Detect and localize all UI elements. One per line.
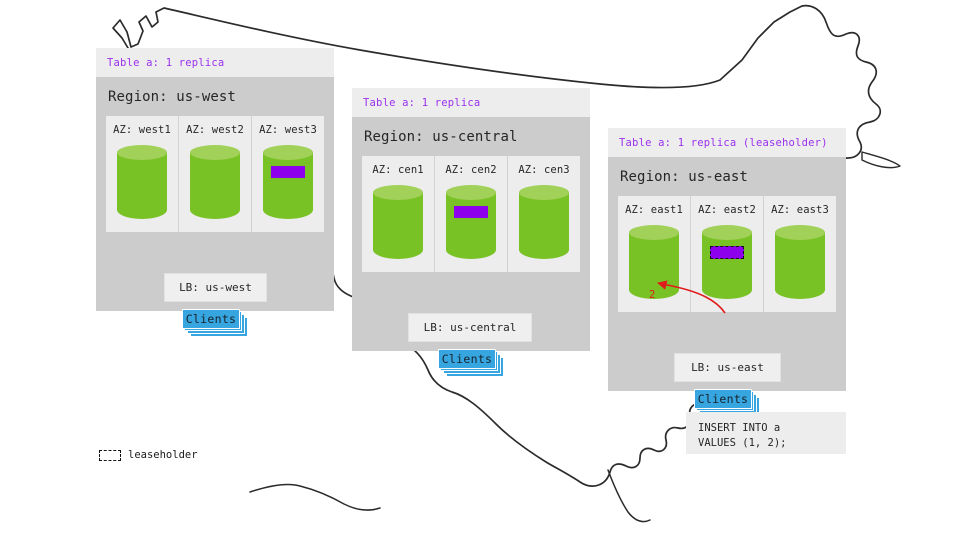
az-strip: AZ: west1 AZ: west2 [106, 116, 324, 232]
az-label: AZ: west2 [179, 124, 251, 136]
cylinder-body [117, 152, 167, 219]
az-strip: AZ: cen1 AZ: cen2 [362, 156, 580, 272]
cylinder-body [775, 232, 825, 299]
database-cylinder-cen1[interactable] [373, 185, 423, 259]
diagram-stage: Table a: 1 replica Region: us-west AZ: w… [0, 0, 960, 540]
dashed-rect-icon [99, 450, 121, 461]
az-label: AZ: cen2 [435, 164, 507, 176]
database-cylinder-east1[interactable] [629, 225, 679, 299]
replica-block-west3 [271, 166, 305, 178]
cylinder-body [519, 192, 569, 259]
cylinder-body [190, 152, 240, 219]
az-label: AZ: cen1 [362, 164, 434, 176]
region-title: Region: us-east [618, 157, 836, 196]
cylinder-top [446, 185, 496, 200]
legend-leaseholder: leaseholder [99, 449, 198, 461]
cylinder-top [702, 225, 752, 240]
region-header-label: Table a: 1 replica (leaseholder) [608, 128, 846, 157]
cylinder-body [373, 192, 423, 259]
database-cylinder-east2[interactable] [702, 225, 752, 299]
leaseholder-block-east2 [710, 246, 744, 259]
cylinder-top [629, 225, 679, 240]
region-body: Region: us-west AZ: west1 AZ: west2 [96, 77, 334, 311]
clients-button-label[interactable]: Clients [694, 389, 752, 409]
legend-label: leaseholder [128, 449, 198, 461]
az-cell-cen2[interactable]: AZ: cen2 [435, 156, 508, 272]
cylinder-body [446, 192, 496, 259]
region-panel-us-central: Table a: 1 replica Region: us-central AZ… [352, 88, 590, 351]
database-cylinder-cen2[interactable] [446, 185, 496, 259]
load-balancer-us-central[interactable]: LB: us-central [408, 313, 532, 342]
region-title: Region: us-west [106, 77, 324, 116]
clients-stack-us-central[interactable]: Clients [438, 349, 504, 377]
cylinder-top [373, 185, 423, 200]
cylinder-top [775, 225, 825, 240]
cylinder-top [519, 185, 569, 200]
cylinder-body [702, 232, 752, 299]
annotation-step-number: 2 [649, 289, 655, 301]
database-cylinder-cen3[interactable] [519, 185, 569, 259]
database-cylinder-west2[interactable] [190, 145, 240, 219]
database-cylinder-east3[interactable] [775, 225, 825, 299]
az-label: AZ: cen3 [508, 164, 580, 176]
clients-stack-us-west[interactable]: Clients [182, 309, 248, 337]
az-cell-west3[interactable]: AZ: west3 [252, 116, 324, 232]
load-balancer-us-east[interactable]: LB: us-east [674, 353, 781, 382]
cylinder-top [117, 145, 167, 160]
region-header-label: Table a: 1 replica [96, 48, 334, 77]
az-label: AZ: east3 [764, 204, 836, 216]
load-balancer-us-west[interactable]: LB: us-west [164, 273, 267, 302]
clients-button-label[interactable]: Clients [438, 349, 496, 369]
region-body: Region: us-east AZ: east1 AZ: east2 [608, 157, 846, 391]
region-title: Region: us-central [362, 117, 580, 156]
az-cell-east2[interactable]: AZ: east2 [691, 196, 764, 312]
database-cylinder-west3[interactable] [263, 145, 313, 219]
az-label: AZ: east2 [691, 204, 763, 216]
az-cell-cen1[interactable]: AZ: cen1 [362, 156, 435, 272]
region-header-label: Table a: 1 replica [352, 88, 590, 117]
az-label: AZ: west3 [252, 124, 324, 136]
az-cell-east3[interactable]: AZ: east3 [764, 196, 836, 312]
region-body: Region: us-central AZ: cen1 AZ: cen2 [352, 117, 590, 351]
az-cell-west1[interactable]: AZ: west1 [106, 116, 179, 232]
az-label: AZ: east1 [618, 204, 690, 216]
region-panel-us-east: Table a: 1 replica (leaseholder) Region:… [608, 128, 846, 391]
database-cylinder-west1[interactable] [117, 145, 167, 219]
cylinder-top [263, 145, 313, 160]
replica-block-cen2 [454, 206, 488, 218]
az-cell-cen3[interactable]: AZ: cen3 [508, 156, 580, 272]
cylinder-top [190, 145, 240, 160]
az-label: AZ: west1 [106, 124, 178, 136]
sql-statement-box: INSERT INTO a VALUES (1, 2); [686, 412, 846, 454]
az-cell-west2[interactable]: AZ: west2 [179, 116, 252, 232]
cylinder-body [263, 152, 313, 219]
clients-button-label[interactable]: Clients [182, 309, 240, 329]
region-panel-us-west: Table a: 1 replica Region: us-west AZ: w… [96, 48, 334, 311]
